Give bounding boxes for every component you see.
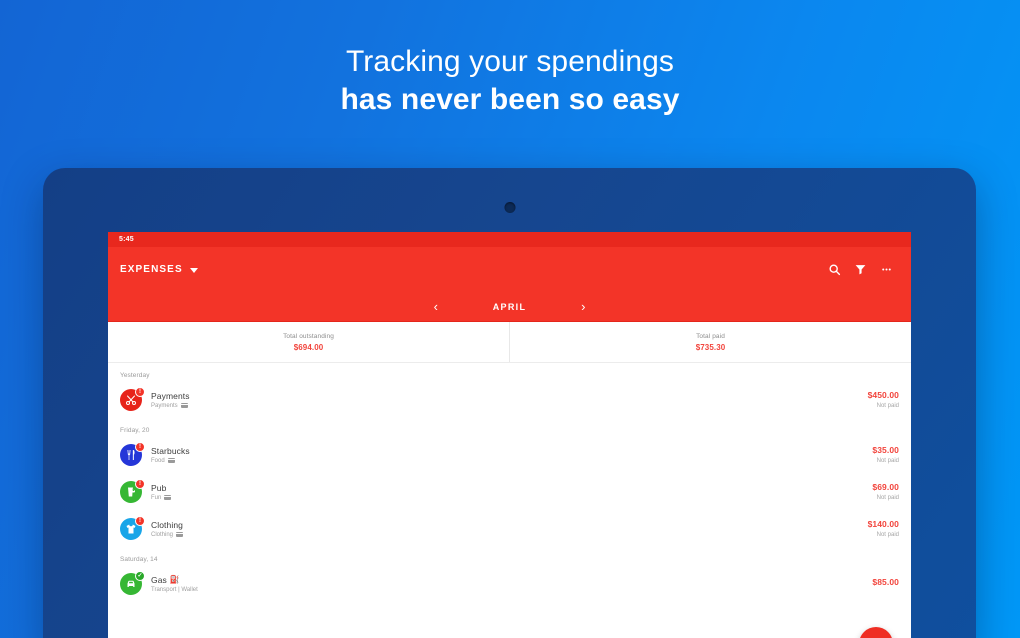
transaction-subtitle: Payments	[151, 403, 868, 409]
overflow-menu-icon[interactable]	[873, 257, 899, 283]
transaction-title: Pub	[151, 483, 872, 493]
transaction-status: Not paid	[868, 532, 899, 538]
chevron-left-icon[interactable]: ‹	[429, 300, 443, 313]
transaction-title-text: Pub	[151, 483, 166, 493]
current-month-label: APRIL	[493, 302, 527, 312]
transaction-status: Not paid	[868, 403, 899, 409]
status-badge: !	[135, 442, 145, 452]
transaction-subtitle: Clothing	[151, 532, 868, 538]
total-outstanding-value: $694.00	[294, 343, 324, 352]
transaction-amount-block: $450.00 Not paid	[868, 390, 899, 409]
transaction-amount-block: $69.00 Not paid	[872, 482, 899, 501]
transaction-text: Clothing Clothing	[151, 520, 868, 538]
transaction-amount-block: $140.00 Not paid	[868, 519, 899, 538]
transaction-title-text: Gas	[151, 575, 167, 585]
add-expense-fab[interactable]: +	[859, 627, 893, 638]
transaction-amount: $35.00	[872, 445, 899, 455]
transaction-row[interactable]: ! Pub Fun $69.00 Not paid	[108, 473, 911, 510]
transaction-row[interactable]: ! Payments Payments $450.00 Not paid	[108, 381, 911, 418]
total-outstanding-label: Total outstanding	[283, 333, 334, 340]
avatar: !	[120, 481, 142, 503]
plus-icon: +	[870, 634, 881, 638]
totals-summary: Total outstanding $694.00 Total paid $73…	[108, 322, 911, 363]
transaction-amount: $450.00	[868, 390, 899, 400]
transaction-list: Yesterday ! Payments Payments	[108, 363, 911, 602]
promo-headline: Tracking your spendings has never been s…	[0, 44, 1020, 118]
camera-dot-icon	[504, 202, 515, 213]
chevron-right-icon[interactable]: ›	[576, 300, 590, 313]
card-icon	[181, 403, 188, 408]
promo-line-1: Tracking your spendings	[0, 44, 1020, 80]
transaction-text: Pub Fun	[151, 483, 872, 501]
avatar: !	[120, 444, 142, 466]
transaction-text: Gas ⛽ Transport | Wallet	[151, 575, 872, 593]
transaction-title: Starbucks	[151, 446, 872, 456]
transaction-category: Fun	[151, 495, 161, 501]
day-group-header: Yesterday	[108, 363, 911, 381]
status-badge: ✓	[135, 571, 145, 581]
avatar: !	[120, 389, 142, 411]
app-bar: EXPENSES	[108, 247, 911, 292]
transaction-status: Not paid	[872, 458, 899, 464]
status-bar-clock: 5:45	[119, 236, 134, 243]
tablet-device-frame: 5:45 EXPENSES	[43, 168, 976, 638]
transaction-row[interactable]: ! Starbucks Food $35.00 Not paid	[108, 436, 911, 473]
transaction-title: Payments	[151, 391, 868, 401]
transaction-subtitle: Transport | Wallet	[151, 587, 872, 593]
fuel-pump-emoji: ⛽	[170, 575, 180, 584]
month-navigation: ‹ APRIL ›	[108, 292, 911, 322]
avatar: !	[120, 518, 142, 540]
app-bar-title: EXPENSES	[120, 264, 183, 275]
total-paid-cell: Total paid $735.30	[509, 322, 911, 362]
transaction-amount-block: $85.00	[872, 577, 899, 590]
transaction-title-text: Clothing	[151, 520, 183, 530]
transaction-title: Clothing	[151, 520, 868, 530]
chevron-down-icon[interactable]	[190, 268, 198, 273]
day-group-header: Friday, 20	[108, 418, 911, 436]
transaction-subtitle: Fun	[151, 495, 872, 501]
day-group-header: Saturday, 14	[108, 547, 911, 565]
transaction-title-text: Starbucks	[151, 446, 190, 456]
transaction-row[interactable]: ✓ Gas ⛽ Transport | Wallet $85.00	[108, 565, 911, 602]
transaction-category: Clothing	[151, 532, 173, 538]
transaction-amount: $69.00	[872, 482, 899, 492]
card-icon	[164, 495, 171, 500]
avatar: ✓	[120, 573, 142, 595]
transaction-amount-block: $35.00 Not paid	[872, 445, 899, 464]
transaction-status: Not paid	[872, 495, 899, 501]
transaction-amount: $85.00	[872, 577, 899, 587]
transaction-text: Starbucks Food	[151, 446, 872, 464]
card-icon	[168, 458, 175, 463]
transaction-subtitle: Food	[151, 458, 872, 464]
status-badge: !	[135, 387, 145, 397]
status-badge: !	[135, 479, 145, 489]
status-badge: !	[135, 516, 145, 526]
transaction-text: Payments Payments	[151, 391, 868, 409]
total-paid-value: $735.30	[696, 343, 726, 352]
promo-line-2: has never been so easy	[0, 82, 1020, 118]
total-paid-label: Total paid	[696, 333, 725, 340]
transaction-title: Gas ⛽	[151, 575, 872, 585]
filter-icon[interactable]	[847, 257, 873, 283]
transaction-row[interactable]: ! Clothing Clothing $140.00 Not paid	[108, 510, 911, 547]
app-screen: 5:45 EXPENSES	[108, 232, 911, 638]
transaction-category: Payments	[151, 403, 178, 409]
card-icon	[176, 532, 183, 537]
status-bar: 5:45	[108, 232, 911, 247]
search-icon[interactable]	[821, 257, 847, 283]
total-outstanding-cell: Total outstanding $694.00	[108, 322, 509, 362]
transaction-amount: $140.00	[868, 519, 899, 529]
transaction-category: Food	[151, 458, 165, 464]
transaction-title-text: Payments	[151, 391, 190, 401]
transaction-category: Transport | Wallet	[151, 587, 198, 593]
